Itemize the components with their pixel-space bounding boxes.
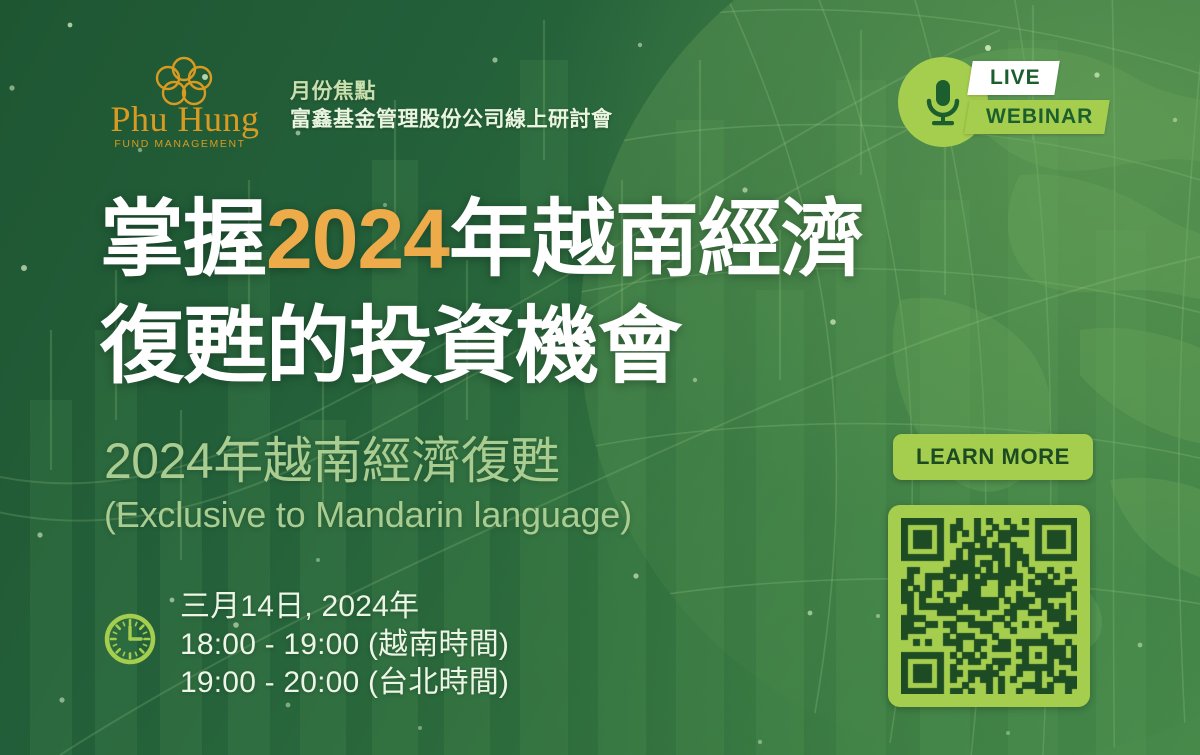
brand-logo[interactable]: Phu Hung FUND MANAGEMENT — [100, 56, 270, 146]
subtitle-english: (Exclusive to Mandarin language) — [104, 492, 804, 538]
subtitle-chinese: 2024年越南經濟復甦 — [104, 430, 804, 492]
schedule-lines: 三月14日, 2024年 18:00 - 19:00 (越南時間) 19:00 … — [180, 588, 509, 702]
schedule-time-vietnam: 18:00 - 19:00 (越南時間) — [180, 626, 509, 664]
qr-code[interactable] — [888, 505, 1090, 707]
subtitle-block: 2024年越南經濟復甦 (Exclusive to Mandarin langu… — [104, 430, 804, 538]
webinar-banner: Phu Hung FUND MANAGEMENT 月份焦點 富鑫基金管理股份公司… — [0, 0, 1200, 755]
schedule-time-taipei: 19:00 - 20:00 (台北時間) — [180, 664, 509, 702]
webinar-tag: WEBINAR — [964, 100, 1110, 134]
headline-line1-part1: 掌握 — [100, 192, 266, 286]
live-webinar-badge: LIVE WEBINAR — [898, 57, 1118, 149]
live-tag: LIVE — [967, 61, 1059, 95]
webinar-label: WEBINAR — [986, 105, 1093, 129]
brand-name: Phu Hung — [100, 100, 270, 138]
headline-line-1: 掌握2024年越南經濟 — [100, 186, 980, 293]
schedule-date: 三月14日, 2024年 — [180, 588, 509, 626]
microphone-icon — [921, 76, 965, 128]
header-subject: 富鑫基金管理股份公司線上研討會 — [290, 105, 613, 134]
schedule-block: 三月14日, 2024年 18:00 - 19:00 (越南時間) 19:00 … — [103, 588, 623, 708]
headline-line1-part2: 年越南經濟 — [449, 192, 864, 286]
headline-block: 掌握2024年越南經濟 復甦的投資機會 — [100, 186, 980, 400]
learn-more-button[interactable]: LEARN MORE — [893, 434, 1093, 480]
brand-tagline: FUND MANAGEMENT — [100, 138, 260, 150]
headline-year: 2024 — [266, 192, 449, 286]
qr-code-canvas — [901, 518, 1077, 694]
live-label: LIVE — [990, 66, 1041, 90]
header-text-block: 月份焦點 富鑫基金管理股份公司線上研討會 — [290, 78, 613, 134]
clock-icon — [103, 612, 157, 666]
headline-line-2: 復甦的投資機會 — [100, 293, 980, 400]
header-eyebrow: 月份焦點 — [290, 78, 613, 105]
